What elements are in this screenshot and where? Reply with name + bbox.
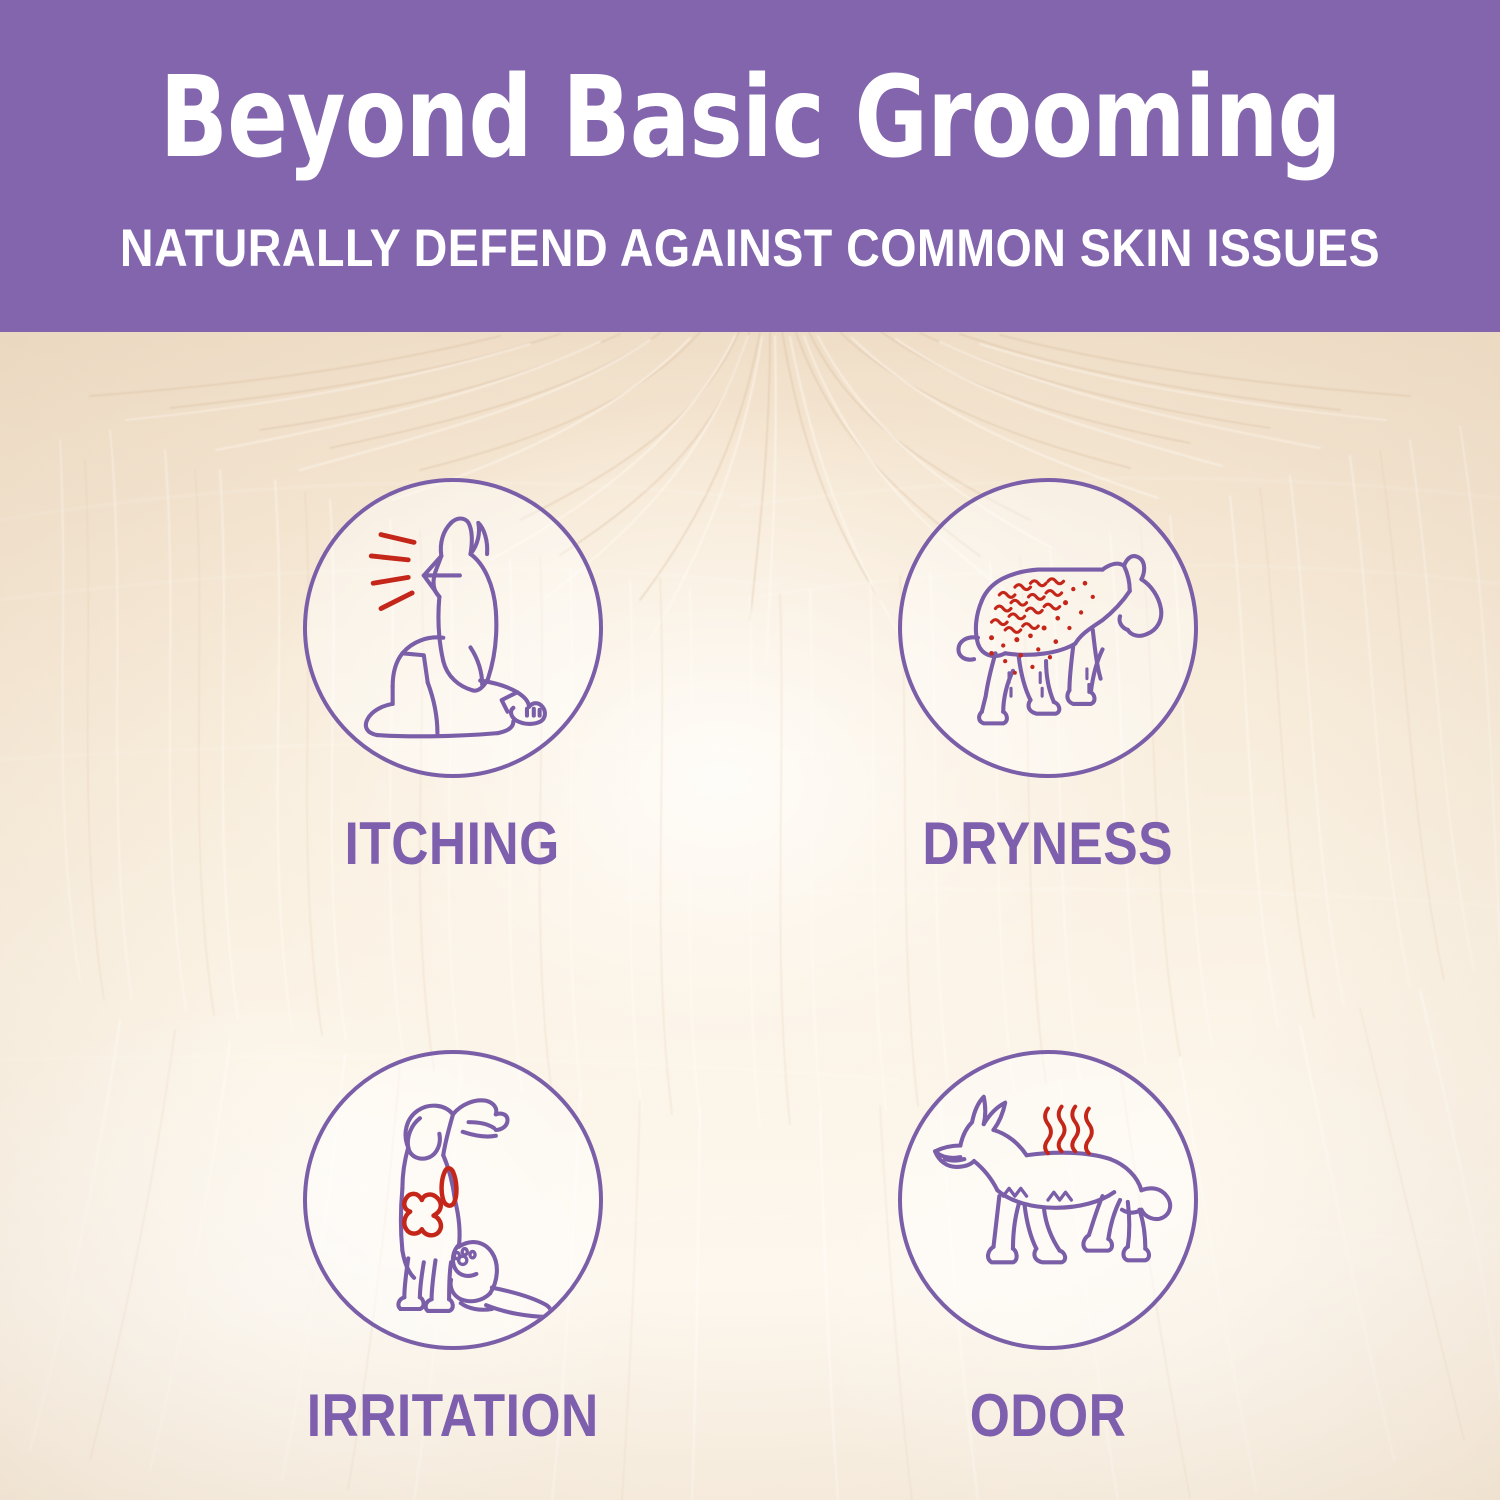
benefit-icon-circle-irritation [303,1050,603,1350]
dog-flaky-skin-icon [902,478,1194,778]
benefit-label-itching: ITCHING [345,814,560,874]
red-flake-specks [989,581,1095,675]
benefit-item-dryness: DRYNESS [750,332,1345,916]
benefit-icon-circle-odor [898,1050,1198,1350]
dog-scratching-icon [307,478,599,778]
dog-sitting-irritated-patch-icon [307,1050,599,1350]
red-odor-waves [1045,1107,1092,1154]
page-title: Beyond Basic Grooming [159,62,1340,174]
header-banner: Beyond Basic Grooming NATURALLY DEFEND A… [0,0,1500,332]
benefit-item-odor: ODOR [750,916,1345,1500]
benefit-item-itching: ITCHING [155,332,750,916]
benefit-label-dryness: DRYNESS [922,814,1173,874]
red-patches [404,1168,456,1235]
benefit-item-irritation: IRRITATION [155,916,750,1500]
benefit-icon-circle-itching [303,478,603,778]
dog-odor-waves-icon [902,1050,1194,1350]
benefits-grid: ITCHING [0,332,1500,1500]
red-motion-lines [371,535,414,609]
red-flakes [991,579,1063,633]
benefit-label-irritation: IRRITATION [307,1386,599,1446]
promo-poster: Beyond Basic Grooming NATURALLY DEFEND A… [0,0,1500,1500]
benefit-icon-circle-dryness [898,478,1198,778]
benefit-label-odor: ODOR [969,1386,1126,1446]
page-subtitle: NATURALLY DEFEND AGAINST COMMON SKIN ISS… [120,222,1380,275]
